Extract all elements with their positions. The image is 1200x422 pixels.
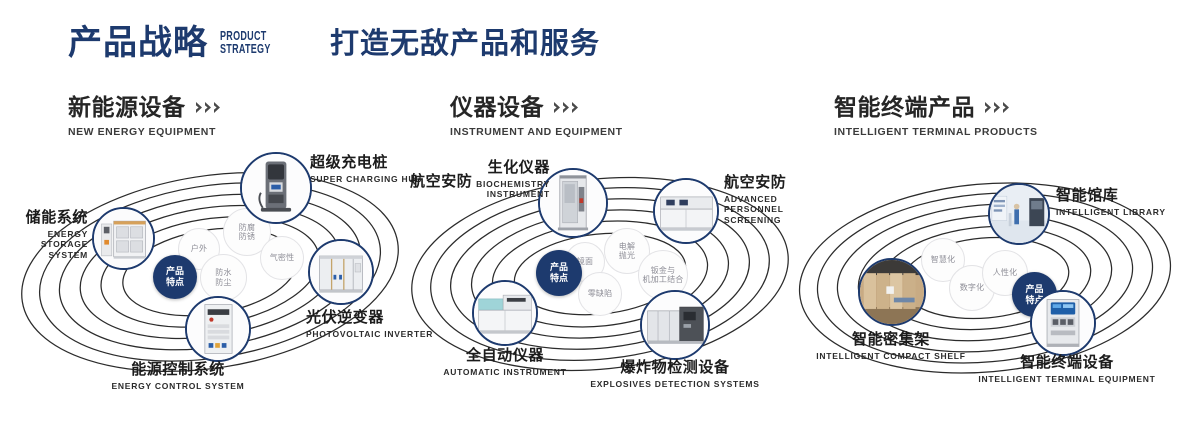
label-intelligent-compact-shelf: 智能密集架 INTELLIGENT COMPACT SHELF [808,332,974,361]
label-biochemistry-instrument: 生化仪器 BIOCHEMISTRY INSTRUMENT [460,160,550,200]
chevrons-right-icon [195,102,221,113]
core-line1: 产品 [166,266,184,277]
feature-bubble: 气密性 [260,236,304,280]
label-automatic-instrument: 全自动仪器 AUTOMATIC INSTRUMENT [420,348,590,377]
section-title-new-energy: 新能源设备 NEW ENERGY EQUIPMENT [68,96,221,138]
poster-canvas: 产品战略 PRODUCT STRATEGY 打造无敌产品和服务 新能源设备 NE… [0,0,1200,422]
pv-inverter-cabinet-photo [310,241,372,303]
section-en-2: INTELLIGENT TERMINAL PRODUCTS [834,126,1038,138]
label-explosives-detection-systems: 爆炸物检测设备 EXPLOSIVES DETECTION SYSTEMS [580,360,770,389]
poster-header: 产品战略 PRODUCT STRATEGY [68,26,290,60]
chevrons-right-icon [553,102,579,113]
chevrons-right-icon [984,102,1010,113]
section-cn-0: 新能源设备 [68,96,186,119]
node-explosives-detection-systems[interactable] [640,290,710,360]
diagram-new-energy: 户外 防腐防锈 防水防尘 气密性 产品 特点 [10,150,410,410]
core-badge-product-features: 产品 特点 [153,255,197,299]
automatic-instrument-photo [474,282,536,344]
node-energy-storage-system[interactable] [92,207,155,270]
header-title-en: PRODUCT STRATEGY [220,30,271,60]
smart-library-photo [990,185,1048,243]
section-en-0: NEW ENERGY EQUIPMENT [68,126,221,138]
compact-shelving-photo [860,260,924,324]
diagram-instrument: 镜面 电解抛光 钣金与机加工结合 零缺陷 产品 特点 生化仪器 [400,150,800,410]
core-line2: 特点 [166,277,184,288]
node-intelligent-terminal-equipment[interactable] [1030,290,1096,356]
header-slogan: 打造无敌产品和服务 [330,30,600,59]
diagram-intelligent-terminal: 智慧化 数字化 人性化 产品 特点 [790,150,1190,410]
section-en-1: INSTRUMENT AND EQUIPMENT [450,126,623,138]
node-energy-control-system[interactable] [185,296,251,362]
node-automatic-instrument[interactable] [472,280,538,346]
explosives-detector-photo [642,292,708,358]
charging-pile-photo [242,154,310,222]
core-badge-product-features: 产品 特点 [536,250,582,296]
label-aviation-security-left: 航空安防 [410,174,472,191]
label-energy-storage-system: 储能系统 ENERGY STORAGE SYSTEM [2,210,88,261]
section-title-intelligent: 智能终端产品 INTELLIGENT TERMINAL PRODUCTS [834,96,1038,138]
node-photovoltaic-inverter[interactable] [308,239,374,305]
node-super-charging-hub[interactable] [240,152,312,224]
section-cn-1: 仪器设备 [450,96,544,119]
screening-machine-photo [655,180,717,242]
self-service-kiosk-photo [1032,292,1094,354]
node-intelligent-compact-shelf[interactable] [858,258,926,326]
label-energy-control-system: 能源控制系统 ENERGY CONTROL SYSTEM [88,362,268,391]
section-title-instrument: 仪器设备 INSTRUMENT AND EQUIPMENT [450,96,623,138]
core-line2: 特点 [550,273,568,284]
feature-bubble: 零缺陷 [578,272,622,316]
control-cabinet-photo [187,298,249,360]
energy-storage-cabinet-photo [94,209,153,268]
core-line1: 产品 [550,262,568,273]
section-cn-2: 智能终端产品 [834,96,975,119]
node-advanced-personnel-screening[interactable] [653,178,719,244]
label-intelligent-terminal-equipment: 智能终端设备 INTELLIGENT TERMINAL EQUIPMENT [972,355,1162,384]
feature-bubble: 防水防尘 [200,254,247,301]
header-title-en-line2: STRATEGY [220,43,271,56]
label-intelligent-library: 智能馆库 INTELLIGENT LIBRARY [1056,188,1166,217]
node-intelligent-library[interactable] [988,183,1050,245]
header-title-cn: 产品战略 [68,26,208,60]
